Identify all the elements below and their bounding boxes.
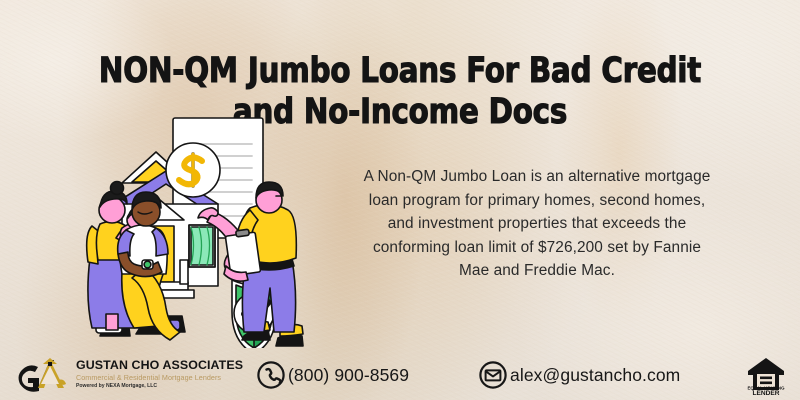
logo-company-name: GUSTAN CHO ASSOCIATES — [76, 359, 243, 371]
contact-phone[interactable]: (800) 900-8569 — [256, 360, 409, 390]
logo-powered-by: Powered by NEXA Mortgage, LLC — [76, 384, 243, 389]
hero-illustration — [60, 108, 360, 348]
email-address: alex@gustancho.com — [510, 365, 680, 386]
equal-housing-lender-icon: EQUAL HOUSING LENDER — [744, 352, 788, 396]
contact-email[interactable]: alex@gustancho.com — [478, 360, 680, 390]
envelope-icon — [478, 360, 508, 390]
phone-icon — [256, 360, 286, 390]
marketing-banner: NON-QM Jumbo Loans For Bad Credit and No… — [0, 0, 800, 400]
gca-monogram-icon — [14, 354, 70, 394]
phone-number: (800) 900-8569 — [288, 365, 409, 386]
banner-paragraph: A Non-QM Jumbo Loan is an alternative mo… — [358, 165, 716, 282]
ehl-line2: LENDER — [752, 390, 779, 396]
company-logo[interactable]: GUSTAN CHO ASSOCIATES Commercial & Resid… — [14, 354, 243, 394]
logo-tagline: Commercial & Residential Mortgage Lender… — [76, 374, 243, 381]
banner-footer: GUSTAN CHO ASSOCIATES Commercial & Resid… — [0, 348, 800, 400]
dollar-coin — [166, 143, 220, 197]
